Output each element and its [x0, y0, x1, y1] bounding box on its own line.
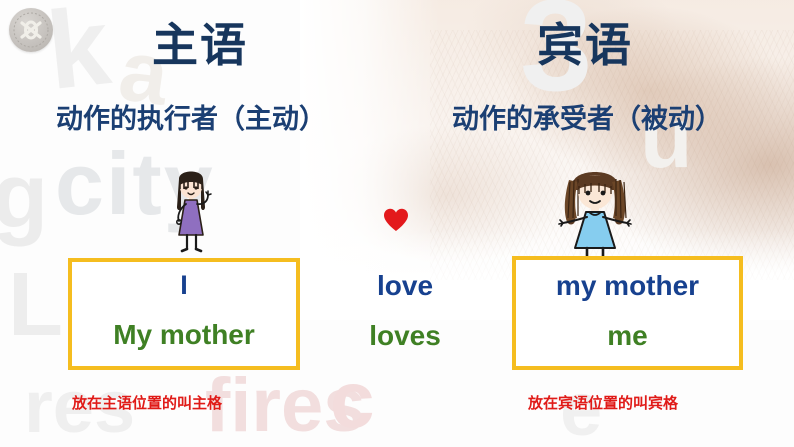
object-word-my-mother: my mother [512, 272, 743, 300]
subject-subtitle: 动作的执行者（主动） [56, 106, 326, 133]
verb-word-loves: loves [340, 322, 470, 350]
verb-word-love: love [340, 272, 470, 300]
medal-badge-icon[interactable] [9, 8, 53, 52]
watermark-letter-c: c [330, 360, 375, 440]
slide-canvas: k a g city L 3 u res fires c e 主语 动作的执行者… [0, 0, 794, 447]
girl-blue-dress-icon [543, 160, 647, 265]
subject-word-i: I [68, 272, 300, 299]
subject-title: 主语 [152, 22, 248, 68]
heart-icon [383, 208, 409, 237]
object-title: 宾语 [537, 22, 633, 68]
object-caption: 放在宾语位置的叫宾格 [528, 396, 678, 411]
watermark-letter-k: k [42, 0, 114, 107]
object-subtitle: 动作的承受者（被动） [452, 106, 722, 133]
subject-word-my-mother: My mother [68, 321, 300, 349]
subject-caption: 放在主语位置的叫主格 [72, 396, 222, 411]
watermark-letter-g: g [0, 150, 48, 242]
watermark-letter-l: L [8, 260, 63, 350]
object-word-me: me [512, 322, 743, 350]
girl-purple-dress-icon [163, 163, 219, 260]
